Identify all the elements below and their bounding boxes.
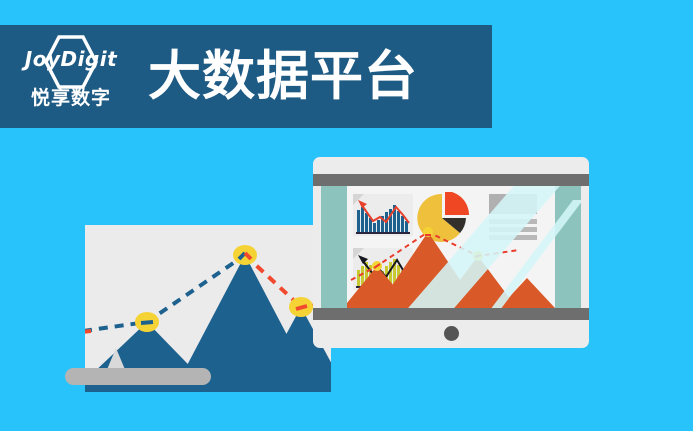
screen-glare xyxy=(321,186,581,308)
trend-line-stub xyxy=(85,331,91,332)
logo-wordmark: JoyDigit xyxy=(12,49,130,69)
monitor-top-bezel xyxy=(313,174,589,186)
monitor-bottom-bezel xyxy=(313,308,589,320)
page-title: 大数据平台 xyxy=(148,50,418,103)
monitor-screen xyxy=(321,186,581,308)
header-banner: JoyDigit 悦享数字 大数据平台 xyxy=(0,25,492,128)
marker-dash xyxy=(141,322,153,323)
logo-subtitle: 悦享数字 xyxy=(12,89,130,108)
banner-illustration: JoyDigit 悦享数字 大数据平台 xyxy=(0,0,693,431)
power-button[interactable] xyxy=(444,326,459,341)
brand-logo: JoyDigit 悦享数字 xyxy=(12,33,130,121)
desktop-monitor xyxy=(313,157,589,348)
monitor-base xyxy=(65,368,211,385)
